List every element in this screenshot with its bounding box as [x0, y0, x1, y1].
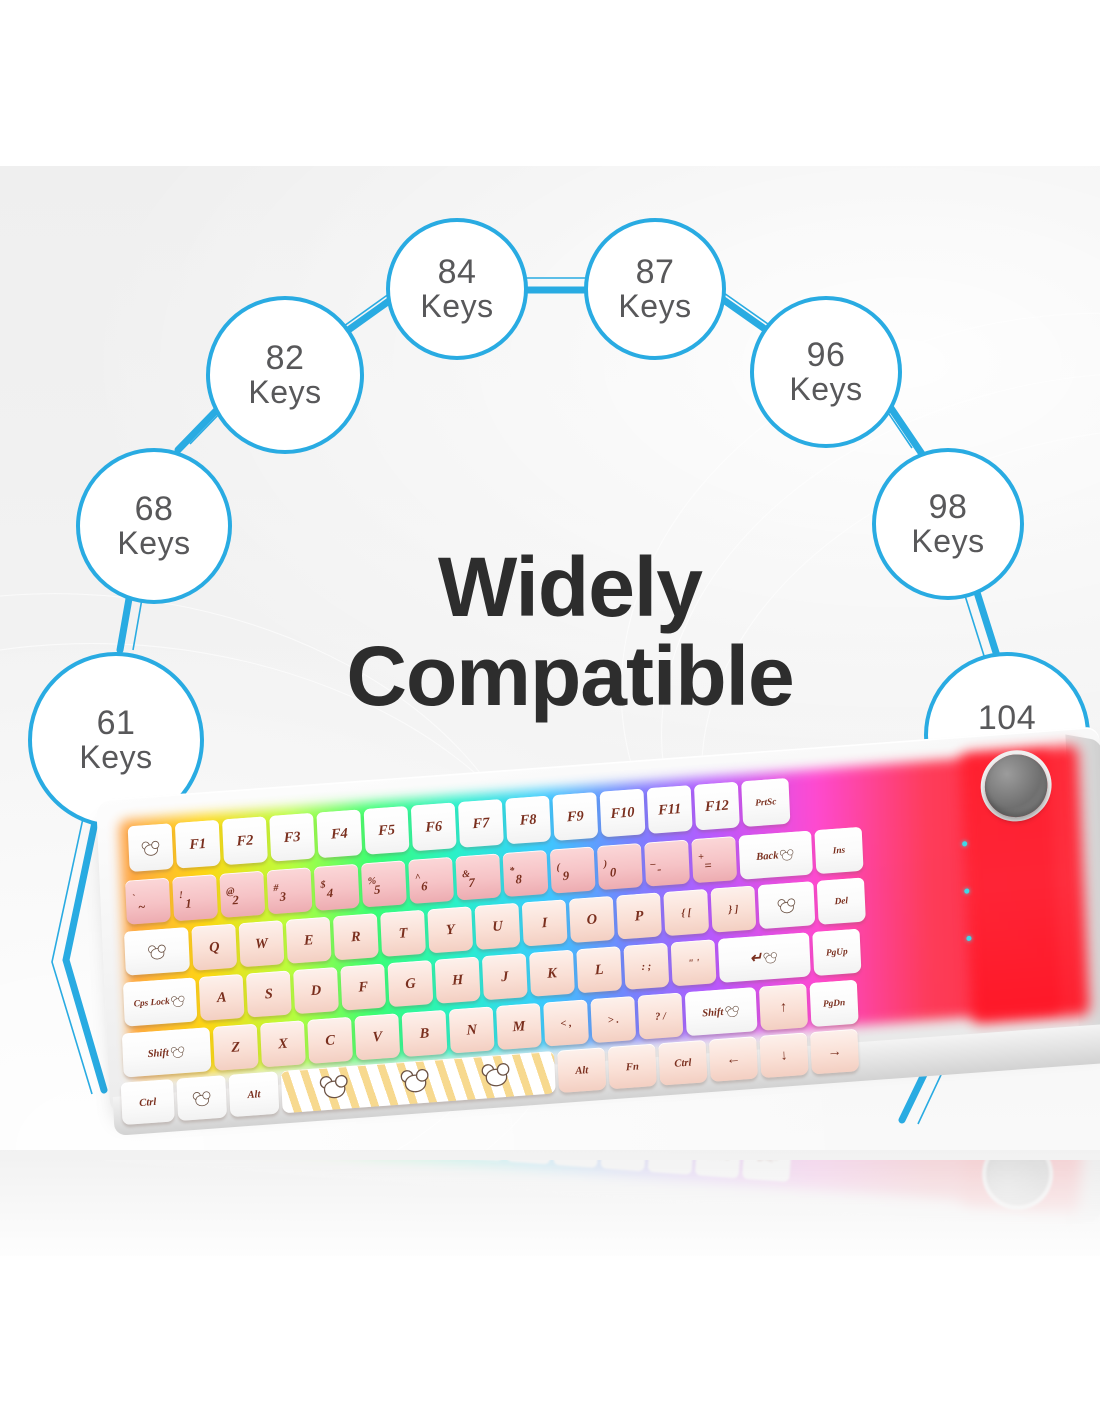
- keycap-pgup[interactable]: PgUp: [812, 929, 861, 976]
- keycap-fn[interactable]: Fn: [608, 1044, 657, 1090]
- key-count-node-84: 84Keys: [386, 218, 528, 360]
- keycap-legend: Ctrl: [674, 1056, 692, 1070]
- keycap-8[interactable]: *8: [503, 850, 549, 897]
- keycap-legend: PrtSc: [756, 1160, 778, 1163]
- keycap-legend: F12: [706, 1160, 731, 1163]
- keycap-bear-book-icon[interactable]: [758, 881, 816, 929]
- keycap-~[interactable]: `~: [125, 878, 171, 925]
- keycap-legend: ←: [726, 1050, 741, 1068]
- keycap-legend: F11: [658, 800, 682, 819]
- key-count-node-96: 96Keys: [750, 296, 902, 448]
- keycap-legend: N: [466, 1021, 477, 1039]
- keycap-1[interactable]: !1: [172, 874, 218, 921]
- keycap-o[interactable]: O: [569, 896, 615, 943]
- keycap-ctrl[interactable]: Ctrl: [658, 1040, 707, 1086]
- keycap-legend: G: [405, 975, 416, 993]
- keycap-legend: F2: [236, 832, 253, 850]
- keycap-legend: K: [547, 964, 557, 982]
- keycap-legend: U: [492, 918, 503, 936]
- keycap-shift-legend: +: [698, 851, 704, 862]
- bear-icon: [321, 1075, 347, 1098]
- keycap-legend: D: [310, 982, 321, 1000]
- keycap-legend: > .: [607, 1013, 619, 1026]
- keycap-q[interactable]: Q: [191, 924, 237, 971]
- keycap-cps-lock[interactable]: Cps Lock: [123, 977, 197, 1026]
- keycap-f11[interactable]: F11: [647, 785, 693, 834]
- keycap-a[interactable]: A: [199, 974, 245, 1021]
- keycap-legend: B: [419, 1025, 429, 1043]
- keycap-f8[interactable]: F8: [505, 796, 551, 845]
- headline-line-2: Compatible: [290, 632, 850, 721]
- keycap-base-legend: 5: [374, 884, 381, 897]
- keycap-legend: Q: [209, 938, 220, 956]
- keycap-legend: ↵: [750, 949, 763, 967]
- keycap-t[interactable]: T: [380, 910, 426, 957]
- node-unit: Keys: [618, 290, 691, 323]
- keycap-j[interactable]: J: [482, 953, 528, 1000]
- keycap-del[interactable]: Del: [817, 877, 866, 924]
- keycap-i[interactable]: I: [522, 899, 568, 946]
- keycap-ins[interactable]: Ins: [814, 827, 863, 874]
- keycap-f1[interactable]: F1: [175, 820, 221, 869]
- node-unit: Keys: [79, 741, 152, 774]
- keycap-legend: Back: [756, 849, 779, 863]
- keycap-legend: PgDn: [823, 997, 846, 1009]
- keycap-prtsc[interactable]: PrtSc: [742, 1160, 793, 1182]
- keycap-f[interactable]: F: [340, 964, 386, 1011]
- keycap-legend: F4: [331, 825, 348, 843]
- bear-icon: [725, 1005, 738, 1016]
- keycap-legend: L: [594, 961, 604, 979]
- keycap-legend: F1: [189, 835, 206, 853]
- keycap-[interactable]: ↵: [718, 932, 811, 983]
- keycap-legend: Fn: [626, 1060, 639, 1074]
- keycap-2[interactable]: @2: [219, 871, 265, 918]
- bear-icon: [402, 1069, 428, 1092]
- keycap-v[interactable]: V: [354, 1013, 400, 1060]
- bear-icon: [764, 952, 777, 963]
- keycap-bear-sparkle-icon[interactable]: [124, 927, 190, 976]
- keycap-alt[interactable]: Alt: [557, 1047, 606, 1093]
- keycap-legend: Ctrl: [139, 1095, 157, 1109]
- node-count: 98: [929, 490, 968, 525]
- keycap-=[interactable]: +=: [691, 836, 737, 883]
- keycap-s[interactable]: S: [246, 970, 292, 1017]
- keycap-shift-legend: (: [556, 861, 560, 871]
- bear-icon: [483, 1063, 509, 1086]
- keycap-legend: ↓: [780, 1047, 788, 1064]
- node-count: 68: [135, 492, 174, 527]
- keycap-e[interactable]: E: [286, 917, 332, 964]
- keycap-f9[interactable]: F9: [552, 792, 598, 841]
- keycap-legend: F10: [610, 804, 635, 823]
- keycap-[interactable]: } ]: [711, 886, 757, 933]
- keycap-legend: C: [325, 1032, 335, 1050]
- keycap-legend: W: [255, 935, 269, 953]
- keycap-bear-win-icon[interactable]: [176, 1075, 227, 1121]
- keycap-shift[interactable]: Shift: [685, 987, 758, 1036]
- keycap-legend: : ;: [641, 960, 651, 973]
- keycap-f4[interactable]: F4: [316, 809, 362, 858]
- keycap-w[interactable]: W: [239, 920, 285, 967]
- keycap-shift-legend: _: [651, 854, 657, 865]
- key-count-node-68: 68Keys: [76, 448, 232, 604]
- keycap-prtsc[interactable]: PrtSc: [741, 778, 790, 827]
- keycap-[interactable]: < ,: [543, 999, 589, 1046]
- keycap-[interactable]: " ': [671, 939, 717, 986]
- keycap-legend: Shift: [147, 1046, 169, 1060]
- keycap-legend: I: [541, 914, 547, 931]
- keycap-m[interactable]: M: [496, 1003, 542, 1050]
- keycap-f6[interactable]: F6: [411, 802, 457, 851]
- keycap-shift[interactable]: Shift: [122, 1027, 212, 1077]
- keycap-legend: R: [351, 928, 361, 946]
- bear-icon: [149, 944, 166, 959]
- keycap-p[interactable]: P: [616, 892, 662, 939]
- bear-icon: [778, 898, 795, 913]
- keycap-legend: Alt: [247, 1087, 260, 1101]
- keycap-base-legend: 7: [468, 877, 475, 890]
- keyboard-body: F1F2F3F4F5F6F7F8F9F10F11F12PrtSc`~!1@2#3…: [96, 726, 1100, 1137]
- product-feature-graphic: 61Keys68Keys82Keys84Keys87Keys96Keys98Ke…: [0, 0, 1100, 1422]
- keycap-legend: O: [586, 911, 597, 929]
- keycap-base-legend: 8: [515, 873, 522, 886]
- keycap-base-legend: 3: [279, 891, 286, 904]
- keycap-alt[interactable]: Alt: [229, 1071, 280, 1117]
- keycap-[interactable]: : ;: [623, 943, 669, 990]
- keycap-legend: F9: [567, 807, 584, 825]
- key-count-node-98: 98Keys: [872, 448, 1024, 600]
- keycap-bear-icon[interactable]: [128, 823, 174, 872]
- keycap-legend: J: [501, 968, 509, 985]
- keycap-f3[interactable]: F3: [269, 813, 315, 862]
- keycap-legend: Del: [834, 896, 848, 907]
- keycap-legend: < ,: [560, 1016, 572, 1029]
- keycap-shift-legend: #: [273, 882, 279, 893]
- keycap-f2[interactable]: F2: [222, 816, 268, 865]
- keycap-[interactable]: ↓: [759, 1032, 808, 1078]
- keycap-k[interactable]: K: [529, 950, 575, 997]
- keycap-shift-legend: $: [320, 878, 326, 889]
- node-unit: Keys: [789, 373, 862, 406]
- keycap-legend: V: [372, 1028, 382, 1046]
- keycap-legend: H: [452, 971, 464, 989]
- node-count: 61: [97, 706, 136, 741]
- node-count: 82: [266, 341, 305, 376]
- keycap-y[interactable]: Y: [427, 906, 473, 953]
- keycap-[interactable]: →: [810, 1029, 859, 1075]
- node-unit: Keys: [911, 525, 984, 558]
- keycap-legend: A: [216, 989, 226, 1007]
- keycap-x[interactable]: X: [260, 1020, 306, 1067]
- keycap-z[interactable]: Z: [213, 1024, 259, 1071]
- node-count: 96: [807, 338, 846, 373]
- keycap-3[interactable]: #3: [267, 867, 313, 914]
- keycap-7[interactable]: &7: [455, 853, 501, 900]
- keycap-d[interactable]: D: [293, 967, 339, 1014]
- keycap-g[interactable]: G: [388, 960, 434, 1007]
- keycap-legend: Alt: [575, 1063, 588, 1077]
- keycap-base-legend: 1: [185, 898, 192, 911]
- keycap-legend: ↑: [780, 998, 788, 1015]
- headline-line-1: Widely: [290, 543, 850, 632]
- keycap-h[interactable]: H: [435, 957, 481, 1004]
- node-unit: Keys: [117, 527, 190, 560]
- keycap-legend: Ins: [833, 845, 846, 856]
- keycap-base-legend: 6: [421, 880, 428, 893]
- node-count: 84: [438, 255, 477, 290]
- keycap-shift-legend: *: [509, 865, 515, 876]
- keycap-base-legend: 4: [327, 887, 334, 900]
- keycap-0[interactable]: )0: [597, 843, 643, 890]
- keycap-f10[interactable]: F10: [600, 789, 646, 838]
- keycap-ctrl[interactable]: Ctrl: [121, 1079, 175, 1125]
- bear-icon: [171, 1046, 184, 1057]
- keycap-[interactable]: ? /: [638, 993, 684, 1040]
- keyboard-product-photo: F1F2F3F4F5F6F7F8F9F10F11F12PrtSc`~!1@2#3…: [96, 800, 1100, 1220]
- page-title: Widely Compatible: [290, 543, 850, 721]
- keycap-f12[interactable]: F12: [695, 1160, 742, 1178]
- node-count: 87: [636, 255, 675, 290]
- keycap-legend: P: [634, 907, 644, 925]
- keycap-shift-legend: ^: [415, 871, 421, 882]
- keycap-[interactable]: _-: [644, 840, 690, 887]
- bear-icon: [193, 1091, 210, 1106]
- keycap-shift-legend: `: [131, 892, 135, 902]
- bear-icon: [781, 849, 794, 860]
- keycap-back[interactable]: Back: [739, 831, 813, 880]
- keycap-u[interactable]: U: [475, 903, 521, 950]
- keycap-l[interactable]: L: [576, 946, 622, 993]
- keycap-5[interactable]: %5: [361, 860, 407, 907]
- key-count-node-87: 87Keys: [584, 218, 726, 360]
- keycap-legend: PrtSc: [755, 797, 777, 809]
- keycap-9[interactable]: (9: [550, 846, 596, 893]
- keycap-base-legend: 0: [610, 866, 617, 879]
- keycap-[interactable]: { [: [663, 889, 709, 936]
- keycap-legend: F12: [705, 797, 730, 816]
- keyboard-reflection: F1F2F3F4F5F6F7F8F9F10F11F12PrtSc`~!1@2#3…: [96, 1160, 1100, 1280]
- keycap-legend: } ]: [728, 902, 738, 915]
- keycap-base-legend: 9: [563, 870, 570, 883]
- keycap-legend: F3: [283, 828, 300, 846]
- keycap-legend: Shift: [702, 1005, 724, 1019]
- keycap-r[interactable]: R: [333, 913, 379, 960]
- keycap-pgdn[interactable]: PgDn: [809, 980, 858, 1027]
- keycap-4[interactable]: $4: [314, 864, 360, 911]
- bear-icon: [172, 995, 185, 1006]
- keycap-shift-legend: !: [179, 889, 183, 899]
- keycap-legend: E: [304, 931, 314, 949]
- keycap-legend: " ': [688, 956, 700, 970]
- keycap-legend: F: [358, 978, 368, 996]
- keycap-c[interactable]: C: [307, 1017, 353, 1064]
- keycap-f7[interactable]: F7: [458, 799, 504, 848]
- keycap-6[interactable]: ^6: [408, 857, 454, 904]
- bear-icon: [142, 840, 159, 855]
- keycap-legend: Cps Lock: [134, 996, 170, 1009]
- keycap-legend: T: [398, 925, 408, 943]
- keycap-legend: F6: [425, 818, 442, 836]
- keycap-legend: M: [512, 1018, 526, 1036]
- keycap-base-legend: -: [657, 863, 662, 876]
- keycap-legend: F5: [378, 821, 395, 839]
- keycap-base-legend: =: [704, 859, 712, 872]
- keycap-f5[interactable]: F5: [364, 806, 410, 855]
- keycap-legend: F7: [472, 814, 489, 832]
- keycap-legend: F8: [519, 811, 536, 829]
- keycap-base-legend: ~: [138, 901, 146, 914]
- keycap-legend: { [: [681, 906, 691, 919]
- key-count-node-82: 82Keys: [206, 296, 364, 454]
- keycap-legend: PgUp: [826, 946, 848, 958]
- node-unit: Keys: [420, 290, 493, 323]
- keycap-legend: Y: [445, 921, 455, 939]
- keycap-base-legend: 2: [232, 894, 239, 907]
- keycap-legend: ? /: [655, 1009, 666, 1022]
- keycap-shift-legend: ): [603, 858, 607, 868]
- keycap-n[interactable]: N: [449, 1006, 495, 1053]
- node-unit: Keys: [248, 376, 321, 409]
- keycap-[interactable]: ↑: [759, 983, 808, 1030]
- keycap-b[interactable]: B: [402, 1010, 448, 1057]
- keycap-legend: →: [827, 1043, 842, 1061]
- keycap-[interactable]: ←: [709, 1036, 758, 1082]
- keycap-[interactable]: > .: [590, 996, 636, 1043]
- keycap-legend: S: [264, 985, 273, 1002]
- keycap-legend: X: [278, 1035, 288, 1053]
- keycap-f12[interactable]: F12: [694, 782, 740, 831]
- keycap-legend: Z: [231, 1039, 241, 1057]
